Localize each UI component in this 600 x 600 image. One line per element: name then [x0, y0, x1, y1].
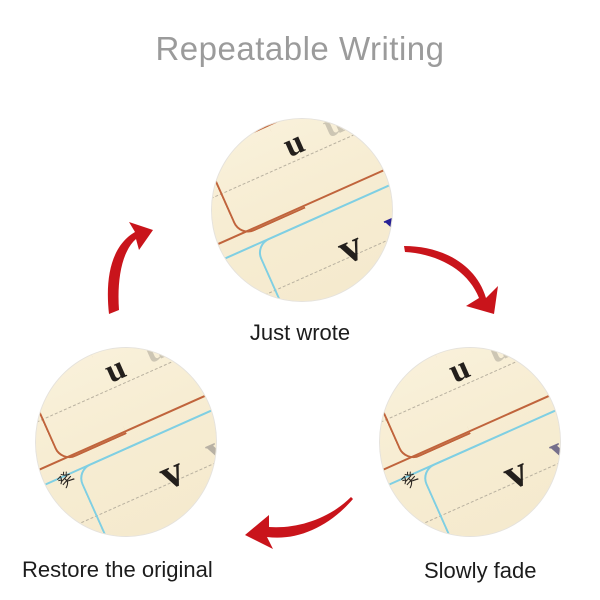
letter-u-trace: u [179, 348, 210, 350]
step-image-just-wrote: u u u u u v v v v [212, 119, 392, 301]
page-title: Repeatable Writing [0, 30, 600, 68]
step-caption-slowly-fade: Slowly fade [424, 558, 537, 584]
letter-u-trace: u [523, 348, 554, 350]
practice-paper-sheet: u u u u u v v v v 癸 [380, 348, 560, 536]
step-image-slowly-fade: u u u u u v v v v 癸 [380, 348, 560, 536]
step-caption-restore-original: Restore the original [22, 557, 213, 583]
cycle-arrow-up-right-icon [95, 206, 165, 321]
cycle-arrow-down-right-icon [402, 212, 508, 321]
letter-u-trace: u [318, 119, 349, 144]
practice-paper-sheet: u u u u u v v v v [212, 119, 392, 301]
letter-u-trace: u [483, 348, 514, 370]
step-caption-just-wrote: Just wrote [0, 320, 600, 346]
step-image-restore-original: u u u u u v v v v 癸 [36, 348, 216, 536]
letter-u-trace: u [139, 348, 170, 370]
practice-paper-sheet: u u u u u v v v v 癸 [36, 348, 216, 536]
cycle-arrow-left-icon [243, 493, 355, 558]
